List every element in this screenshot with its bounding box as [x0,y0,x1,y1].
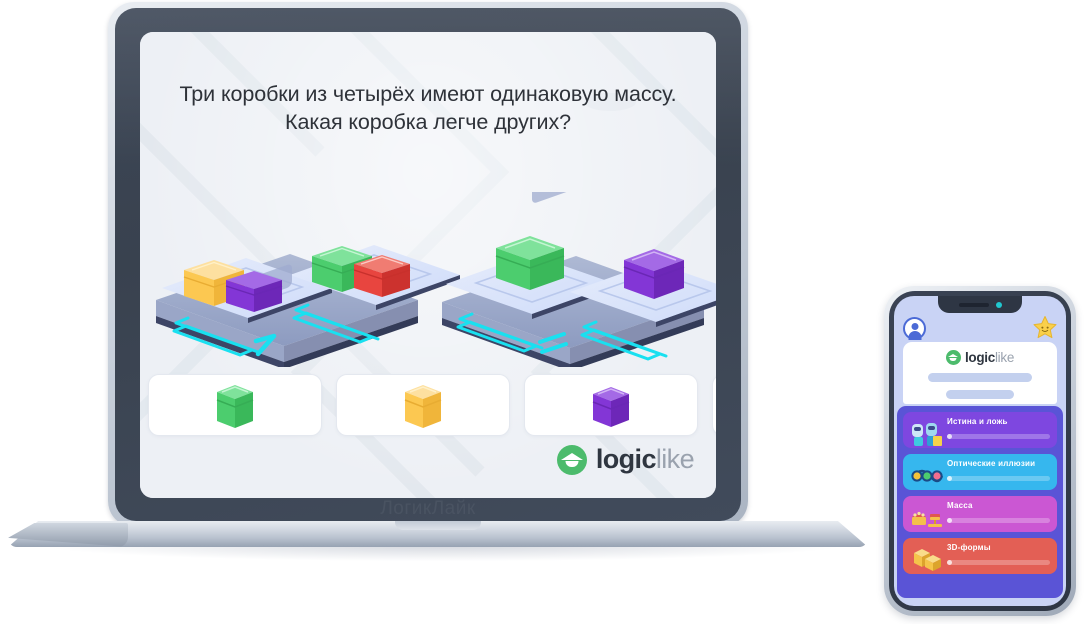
answer-option-purple[interactable] [524,374,698,436]
phone-brand: logiclike [903,350,1057,365]
answer-option-green[interactable] [148,374,322,436]
phone-notch [938,296,1022,313]
menu-item-truth-and-lies[interactable]: Истина и ложь [903,412,1057,448]
menu-item-optical-illusions[interactable]: Оптические иллюзии [903,454,1057,490]
scale-left [156,245,460,367]
placeholder-bar-2 [946,390,1014,399]
menu-item-label: 3D-формы [947,543,1057,552]
phone-brand-wordmark: logiclike [965,350,1014,365]
progress-bar [947,476,1050,481]
menu-item-label: Масса [947,501,1057,510]
logiclike-brand: logiclike [557,444,694,475]
graduation-cap-icon [557,445,587,475]
laptop-screen: Три коробки из четырёх имеют одинаковую … [140,32,716,498]
graduation-cap-icon [946,350,961,365]
laptop-bezel-brand: ЛогикЛайк [108,498,748,520]
answer-option-yellow[interactable] [336,374,510,436]
two-robots-icon [909,416,945,448]
laptop-base-shadow [48,545,838,561]
camera-icon [996,302,1002,308]
scales-cakes-icon [909,500,945,532]
phone-brand-bold: logic [965,350,995,365]
question-text: Три коробки из четырёх имеют одинаковую … [160,80,696,137]
phone-menu-list: Истина и ложь Оптические иллюзии [897,406,1063,598]
phone-header [894,313,1066,343]
scale-right [442,192,716,367]
phone-brand-light: like [995,350,1014,365]
balance-scales-illustration [140,192,716,367]
question-line-2: Какая коробка легче других? [160,108,696,136]
yellow-blocks-icon [909,542,945,574]
star-smiley-icon[interactable] [1032,315,1058,341]
progress-bar [947,560,1050,565]
progress-bar [947,518,1050,523]
brand-name-light: like [656,444,694,474]
user-avatar-icon[interactable] [903,317,926,340]
menu-item-mass[interactable]: Масса [903,496,1057,532]
scales-svg [140,192,716,367]
green-box-icon [212,377,258,433]
menu-item-label: Истина и ложь [947,417,1057,426]
three-circles-icon [909,458,945,490]
yellow-box-icon [400,377,446,433]
answer-options[interactable] [148,374,716,436]
purple-box-icon [588,377,634,433]
progress-bar [947,434,1050,439]
brand-name-bold: logic [596,444,656,474]
menu-item-3d-shapes[interactable]: 3D-формы [903,538,1057,574]
phone-screen: logiclike Истина и ложь [894,296,1066,606]
brand-wordmark: logiclike [596,444,694,475]
laptop-base [8,521,868,573]
phone-device: logiclike Истина и ложь [884,286,1076,616]
laptop-base-notch [395,521,481,530]
laptop-device: ЛогикЛайк Три коробки из четырёх имеют о… [108,2,748,534]
placeholder-bar-1 [928,373,1032,382]
speaker-icon [959,303,989,307]
answer-option-red[interactable] [712,374,716,436]
question-line-1: Три коробки из четырёх имеют одинаковую … [160,80,696,108]
menu-item-label: Оптические иллюзии [947,459,1057,468]
phone-logo-card: logiclike [903,342,1057,404]
